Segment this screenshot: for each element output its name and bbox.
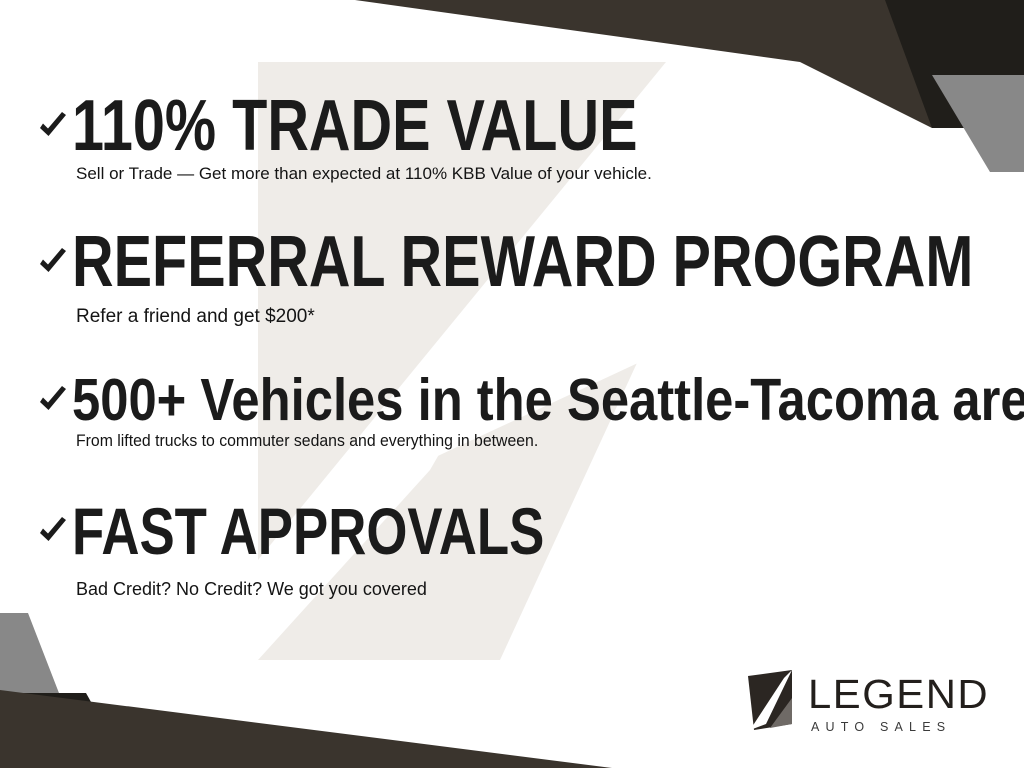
feature-headline: 500+ Vehicles in the Seattle-Tacoma area — [72, 372, 1024, 428]
brand-tagline: AUTO SALES — [811, 721, 986, 734]
feature-headline-row: FAST APPROVALS — [36, 500, 1004, 563]
feature-list: 110% TRADE VALUE Sell or Trade — Get mor… — [0, 0, 1024, 768]
feature-headline: 110% TRADE VALUE — [72, 92, 637, 160]
feature-headline: REFERRAL REWARD PROGRAM — [72, 228, 973, 296]
feature-item: FAST APPROVALS Bad Credit? No Credit? We… — [36, 500, 1004, 600]
feature-item: REFERRAL REWARD PROGRAM Refer a friend a… — [36, 228, 1004, 328]
feature-headline-row: 110% TRADE VALUE — [36, 92, 1004, 160]
feature-headline-row: 500+ Vehicles in the Seattle-Tacoma area — [36, 372, 1004, 428]
brand-wordmark: LEGEND AUTO SALES — [808, 668, 986, 734]
feature-headline: FAST APPROVALS — [72, 500, 544, 563]
feature-headline-row: REFERRAL REWARD PROGRAM — [36, 228, 1004, 296]
legend-l-mark-icon — [744, 668, 800, 734]
feature-subline: Bad Credit? No Credit? We got you covere… — [76, 579, 1004, 600]
feature-subline: Sell or Trade — Get more than expected a… — [76, 164, 1004, 184]
feature-item: 110% TRADE VALUE Sell or Trade — Get mor… — [36, 92, 1004, 184]
feature-item: 500+ Vehicles in the Seattle-Tacoma area… — [36, 372, 1004, 451]
brand-logo: LEGEND AUTO SALES — [744, 668, 976, 744]
check-icon — [36, 245, 70, 279]
check-icon — [36, 514, 70, 548]
check-icon — [36, 109, 70, 143]
feature-subline: From lifted trucks to commuter sedans an… — [76, 431, 939, 451]
feature-subline: Refer a friend and get $200* — [76, 306, 1004, 328]
promo-banner: 110% TRADE VALUE Sell or Trade — Get mor… — [0, 0, 1024, 768]
check-icon — [36, 383, 70, 417]
brand-name: LEGEND — [808, 674, 989, 715]
